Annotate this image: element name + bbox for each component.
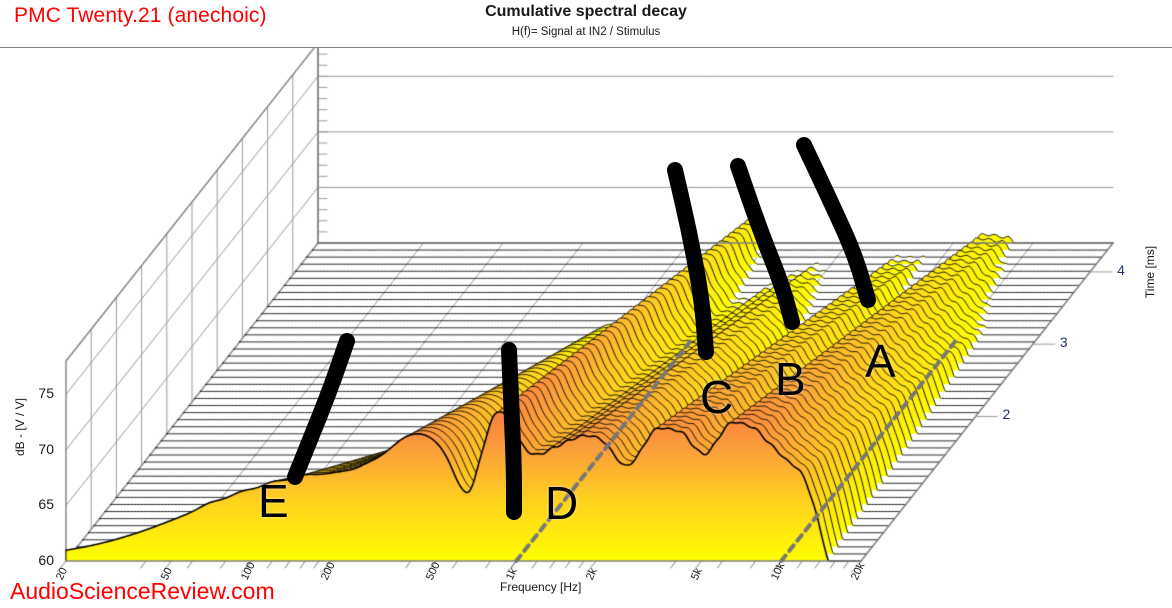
waterfall-plot-canvas[interactable] [0,48,1172,608]
csd-chart-page: PMC Twenty.21 (anechoic) Cumulative spec… [0,0,1172,608]
site-watermark: AudioScienceReview.com [10,578,275,605]
annotation-label-D: D [545,480,578,526]
y-axis-tick-65: 65 [20,496,54,512]
annotation-label-C: C [700,374,733,420]
z-axis-tick-2: 2 [1003,406,1011,422]
y-axis-tick-70: 70 [20,441,54,457]
z-axis-tick-3: 3 [1060,334,1068,350]
z-axis-label: Time [ms] [1143,222,1157,322]
annotation-label-E: E [258,478,289,524]
annotation-label-B: B [775,356,806,402]
z-axis-tick-4: 4 [1117,262,1125,278]
y-axis-tick-60: 60 [20,552,54,568]
header-divider [0,47,1172,48]
chart-title: Cumulative spectral decay [0,3,1172,21]
y-axis-tick-75: 75 [20,385,54,401]
annotation-label-A: A [865,338,896,384]
x-axis-label: Frequency [Hz] [500,580,581,594]
chart-subtitle: H(f)= Signal at IN2 / Stimulus [0,26,1172,38]
